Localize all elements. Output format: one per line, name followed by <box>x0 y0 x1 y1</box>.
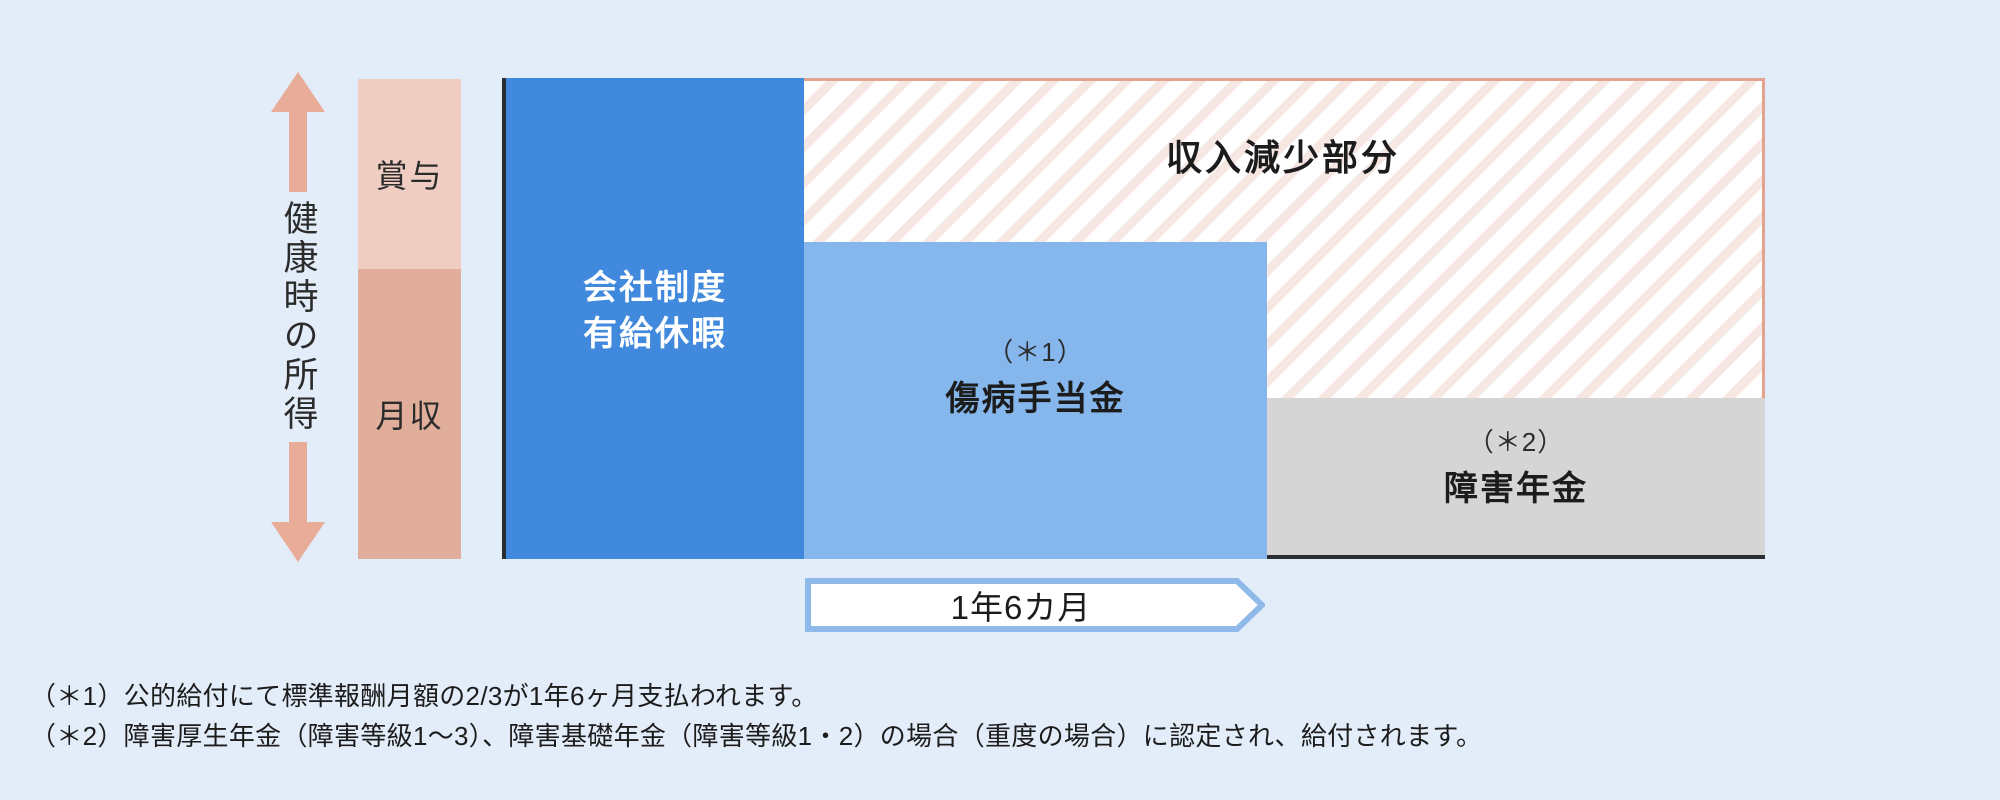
block-company-paid-leave-label: 会社制度 有給休暇 <box>583 266 727 358</box>
income-segment-bonus: 賞与 <box>358 79 461 269</box>
income-segment-bonus-label: 賞与 <box>375 151 443 197</box>
arrow-down-icon <box>271 522 325 562</box>
block-company-paid-leave: 会社制度 有給休暇 <box>506 78 804 559</box>
block-sickness-allowance: （＊1） 傷病手当金 <box>804 242 1267 559</box>
diagram-canvas: 健康時の所得 賞与 月収 収入減少部分 会社制度 有給休暇 （＊1） 傷病手当金 <box>0 0 2000 800</box>
income-reduction-label: 収入減少部分 <box>804 129 1762 181</box>
block-disability-pension-text: （＊2） 障害年金 <box>1267 422 1765 510</box>
duration-banner: 1年6カ月 <box>805 578 1265 632</box>
income-segment-monthly-label: 月収 <box>375 391 443 437</box>
block-sickness-allowance-label: 傷病手当金 <box>804 371 1267 420</box>
income-axis-arrow: 健康時の所得 <box>262 72 334 562</box>
income-axis-label: 健康時の所得 <box>281 192 316 442</box>
footnotes: （＊1）公的給付にて標準報酬月額の2/3が1年6ヶ月支払われます。 （＊2）障害… <box>30 676 1482 757</box>
block-disability-pension-label: 障害年金 <box>1267 461 1765 510</box>
pension-note-ref: （＊2） <box>1267 422 1765 459</box>
healthy-income-bar: 賞与 月収 <box>358 79 461 559</box>
income-segment-monthly: 月収 <box>358 269 461 559</box>
footnote-2: （＊2）障害厚生年金（障害等級1〜3）、障害基礎年金（障害等級1・2）の場合（重… <box>30 716 1482 756</box>
block-disability-pension: （＊2） 障害年金 <box>1267 398 1765 555</box>
duration-banner-label: 1年6カ月 <box>805 578 1237 632</box>
company-label-line2: 有給休暇 <box>583 315 727 353</box>
footnote-1: （＊1）公的給付にて標準報酬月額の2/3が1年6ヶ月支払われます。 <box>30 676 1482 716</box>
sickness-note-ref: （＊1） <box>804 332 1267 369</box>
benefit-timeline-chart: 収入減少部分 会社制度 有給休暇 （＊1） 傷病手当金 （＊2） 障害年金 <box>502 78 1765 559</box>
company-label-line1: 会社制度 <box>583 269 727 307</box>
block-sickness-allowance-text: （＊1） 傷病手当金 <box>804 332 1267 420</box>
